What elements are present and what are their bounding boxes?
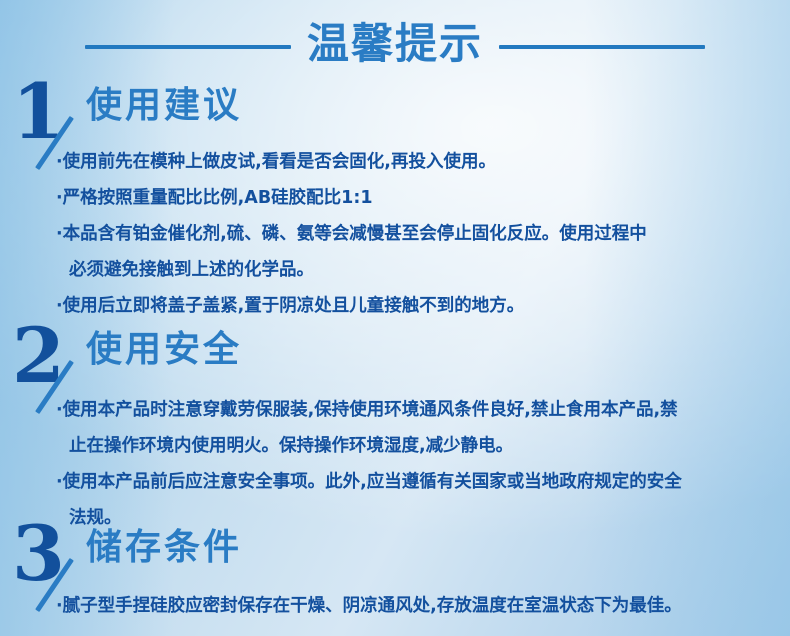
section-body: ·腻子型手捏硅胶应密封保存在干燥、阴凉通风处,存放温度在室温状态下为最佳。 [0,588,790,624]
section-title: 使用建议 [86,84,242,127]
body-line: ·严格按照重量配比比例,AB硅胶配比1:1 [56,180,786,216]
section-heading: 3 储存条件 [0,530,790,584]
body-line: 必须避免接触到上述的化学品。 [56,252,786,288]
section-heading: 2 使用安全 [0,332,790,386]
section-usage-advice: 1 使用建议 ·使用前先在模种上做皮试,看看是否会固化,再投入使用。 ·严格按照… [0,88,790,322]
header-rule-left [85,45,291,49]
section-title: 储存条件 [86,526,242,569]
section-usage-safety: 2 使用安全 ·使用本产品时注意穿戴劳保服装,保持使用环境通风条件良好,禁止食用… [0,332,790,530]
section-storage-conditions: 3 储存条件 ·腻子型手捏硅胶应密封保存在干燥、阴凉通风处,存放温度在室温状态下… [0,530,790,620]
body-line: ·腻子型手捏硅胶应密封保存在干燥、阴凉通风处,存放温度在室温状态下为最佳。 [56,588,786,624]
body-line: ·使用后立即将盖子盖紧,置于阴凉处且儿童接触不到的地方。 [56,288,786,324]
body-line: ·使用本产品时注意穿戴劳保服装,保持使用环境通风条件良好,禁止食用本产品,禁 [56,392,786,428]
body-line: ·使用本产品前后应注意安全事项。此外,应当遵循有关国家或当地政府规定的安全 [56,464,786,500]
section-heading: 1 使用建议 [0,88,790,142]
header-rule-right [499,45,705,49]
page-header: 温馨提示 [0,0,790,88]
section-body: ·使用前先在模种上做皮试,看看是否会固化,再投入使用。 ·严格按照重量配比比例,… [0,144,790,324]
body-line: ·本品含有铂金催化剂,硫、磷、氨等会减慢甚至会停止固化反应。使用过程中 [56,216,786,252]
section-body: ·使用本产品时注意穿戴劳保服装,保持使用环境通风条件良好,禁止食用本产品,禁 止… [0,392,790,536]
page-title: 温馨提示 [291,23,499,65]
promo-notice-page: 温馨提示 1 使用建议 ·使用前先在模种上做皮试,看看是否会固化,再投入使用。 … [0,0,790,636]
section-title: 使用安全 [86,328,242,371]
body-line: 止在操作环境内使用明火。保持操作环境湿度,减少静电。 [56,428,786,464]
body-line: ·使用前先在模种上做皮试,看看是否会固化,再投入使用。 [56,144,786,180]
